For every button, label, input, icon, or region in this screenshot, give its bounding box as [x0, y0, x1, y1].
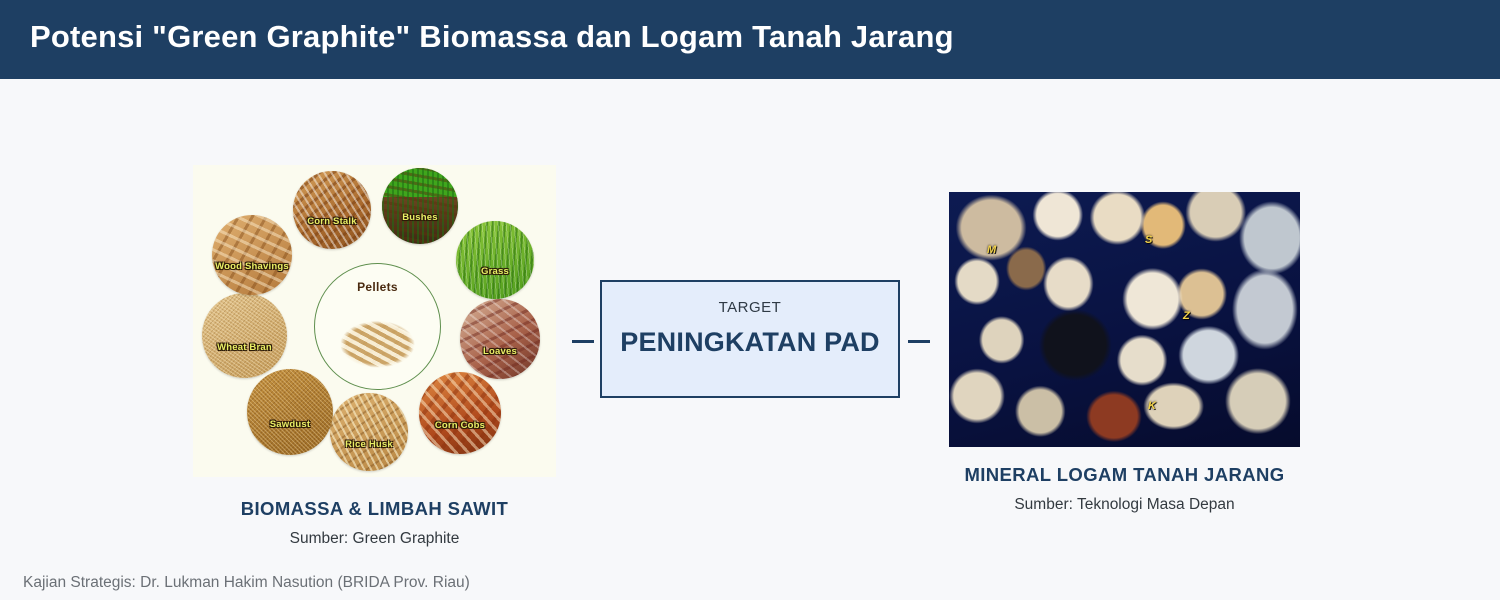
- sawdust-texture: [247, 369, 333, 455]
- mineral-tag-s: S: [1145, 234, 1152, 246]
- mineral-tag-z: Z: [1183, 310, 1190, 322]
- biomass-circle-wood-shavings: Wood Shavings: [212, 215, 292, 295]
- target-headline: PENINGKATAN PAD: [542, 327, 958, 358]
- biomass-caption: BIOMASSA & LIMBAH SAWIT: [193, 498, 556, 520]
- wheat-bran-texture: [202, 293, 287, 378]
- mineral-caption-block: MINERAL LOGAM TANAH JARANG Sumber: Tekno…: [949, 464, 1300, 514]
- biomass-figure: Corn Stalk Bushes Grass Loaves Corn Cobs: [193, 165, 556, 477]
- biomass-circle-wheat-bran: Wheat Bran: [202, 293, 287, 378]
- biomass-circle-sawdust: Sawdust: [247, 369, 333, 455]
- corn-cobs-texture: [419, 372, 501, 454]
- mineral-tag-m: M: [987, 244, 996, 256]
- mineral-source: Sumber: Teknologi Masa Depan: [949, 496, 1300, 514]
- pellets-illustration: [329, 306, 426, 372]
- biomass-circle-bushes: Bushes: [382, 168, 458, 244]
- diagram-stage: Corn Stalk Bushes Grass Loaves Corn Cobs: [0, 79, 1500, 600]
- mineral-caption: MINERAL LOGAM TANAH JARANG: [949, 464, 1300, 486]
- page-title: Potensi "Green Graphite" Biomassa dan Lo…: [30, 19, 954, 55]
- header-bar: Potensi "Green Graphite" Biomassa dan Lo…: [0, 0, 1500, 79]
- biomass-source: Sumber: Green Graphite: [193, 530, 556, 548]
- biomass-circle-corn-cobs: Corn Cobs: [419, 372, 501, 454]
- bushes-texture: [382, 168, 458, 244]
- biomass-circle-grass: Grass: [456, 221, 534, 299]
- target-kicker-label: TARGET: [602, 299, 898, 316]
- biomass-center-circle-pellets: Pellets: [314, 263, 441, 390]
- mineral-figure: M S Z K: [949, 192, 1300, 447]
- mineral-panel: M S Z K MINERAL LOGAM TANAH JARANG Sumbe…: [949, 192, 1300, 514]
- leaves-texture: [460, 299, 540, 379]
- wood-shavings-texture: [212, 215, 292, 295]
- biomass-circle-corn-stalk: Corn Stalk: [293, 171, 371, 249]
- rice-husk-texture: [330, 393, 408, 471]
- footer-note: Kajian Strategis: Dr. Lukman Hakim Nasut…: [23, 574, 470, 592]
- pellets-label: Pellets: [315, 280, 440, 294]
- grass-texture: [456, 221, 534, 299]
- corn-stalk-texture: [293, 171, 371, 249]
- biomass-circle-loaves: Loaves: [460, 299, 540, 379]
- biomass-panel: Corn Stalk Bushes Grass Loaves Corn Cobs: [193, 165, 556, 548]
- biomass-circle-rice-husk: Rice Husk: [330, 393, 408, 471]
- mineral-tag-k: K: [1148, 400, 1156, 412]
- target-node[interactable]: TARGET PENINGKATAN PAD: [600, 280, 900, 398]
